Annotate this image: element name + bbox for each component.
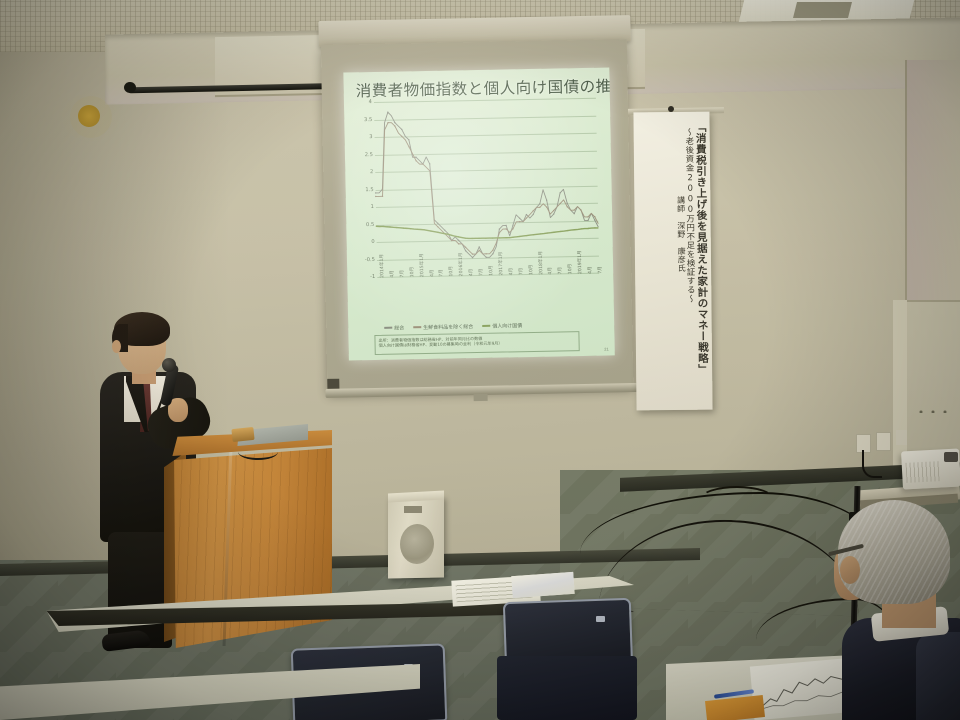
chart-y-tick-label: 1.5 (365, 187, 373, 193)
chart-data-point (519, 221, 520, 222)
chart-x-tick-label: 10月 (567, 264, 573, 275)
chart-x-tick-label: 7月 (478, 268, 484, 276)
seminar-room-photo: 消費者物価指数と個人向け国債の推移 43.532.521.510.50-0.5-… (0, 0, 960, 720)
chart-x-tick-label: 2019年1月 (577, 250, 583, 274)
chart-x-tick-label: 4月 (548, 267, 554, 275)
audience-member (828, 500, 960, 720)
chart-x-tick-label: 7月 (557, 267, 563, 275)
chart-plot-area (374, 98, 599, 277)
wall-switch[interactable] (896, 430, 907, 445)
chart-y-tick-label: 2 (370, 169, 373, 175)
audience-member-hair-texture (838, 500, 950, 604)
audience-member-ear (840, 556, 860, 584)
chart-x-tick-label: 7月 (399, 270, 405, 278)
chart-y-tick-label: 1 (371, 204, 374, 210)
cpi-jgb-line-chart: 43.532.521.510.50-0.5-1 (374, 98, 599, 277)
banner-main-title: 「消費税引き上げ後を見据えた家計のマネー戦略」 (695, 122, 709, 375)
slide-page-number: 21 (604, 347, 609, 352)
chart-y-tick-label: 4 (369, 99, 372, 105)
chart-y-tick-label: 2.5 (365, 152, 373, 158)
chart-x-tick-label: 7月 (597, 266, 603, 274)
event-title-banner: 「消費税引き上げ後を見据えた家計のマネー戦略」 ～老後資金2000万円不足を検証… (633, 112, 712, 411)
projection-screen: 消費者物価指数と個人向け国債の推移 43.532.521.510.50-0.5-… (318, 15, 637, 403)
chart-x-tick-label: 10月 (448, 266, 454, 277)
chart-y-tick-label: 3 (369, 134, 372, 140)
microphone-head (162, 358, 176, 372)
chart-x-axis-labels: 2014年1月4月7月10月2015年1月4月7月10月2016年1月4月7月1… (377, 274, 608, 324)
wall-clock-face (78, 105, 100, 127)
podium-cable (238, 444, 278, 460)
legend-label-jgb: 個人向け国債 (492, 322, 522, 330)
projected-slide: 消費者物価指数と個人向け国債の推移 43.532.521.510.50-0.5-… (343, 67, 614, 360)
legend-item-core: 生鮮食料品を除く総合 (413, 323, 473, 331)
ceiling-vent (793, 2, 852, 18)
chart-x-tick-label: 4月 (429, 269, 435, 277)
chart-x-tick-label: 4月 (508, 268, 514, 276)
legend-label-core: 生鮮食料品を除く総合 (423, 323, 473, 331)
banner-subtitle: ～老後資金2000万円不足を検証する～ (685, 128, 696, 303)
power-cord (862, 450, 882, 478)
chart-data-point (375, 196, 376, 197)
chart-x-tick-label: 7月 (518, 268, 524, 276)
legend-swatch-jgb (482, 325, 490, 327)
pa-speaker-handle (404, 506, 422, 513)
banner-speaker-name: 講師 深野 康彦氏 (676, 196, 685, 273)
legend-swatch-total (384, 327, 392, 329)
legend-label-total: 総合 (394, 324, 404, 331)
chart-data-point (485, 253, 486, 254)
chart-x-tick-label: 4月 (587, 266, 593, 274)
chart-y-tick-label: 0.5 (366, 221, 374, 227)
chart-x-tick-label: 4月 (468, 269, 474, 277)
chart-series-line (374, 108, 599, 259)
chair-seat-right[interactable] (497, 656, 637, 720)
chart-x-tick-label: 2015年1月 (418, 253, 424, 277)
chart-x-tick-label: 2014年1月 (379, 254, 385, 278)
chair-label-tag (596, 616, 605, 622)
projector-vent (905, 461, 940, 483)
chart-y-tick-label: -1 (370, 274, 375, 280)
podium-ledge (231, 427, 254, 442)
chart-x-tick-label: 10月 (488, 265, 494, 276)
chart-x-tick-label: 7月 (439, 269, 445, 277)
legend-item-total: 総合 (384, 324, 404, 331)
chart-x-tick-label: 4月 (389, 270, 395, 278)
projection-screen-pull-tab[interactable] (474, 394, 488, 401)
door-vent-holes (915, 410, 955, 413)
legend-swatch-core (413, 326, 421, 328)
chart-x-tick-label: 2017年1月 (498, 252, 504, 276)
legend-item-jgb: 個人向け国債 (482, 322, 522, 330)
chart-y-tick-label: -0.5 (365, 256, 375, 262)
chart-x-tick-label: 10月 (528, 264, 534, 275)
chart-data-point (382, 196, 383, 197)
chart-y-tick-label: 0 (371, 239, 374, 245)
chart-x-tick-label: 2016年1月 (458, 252, 464, 276)
chart-x-tick-label: 10月 (409, 267, 415, 278)
handout-paper-secondary[interactable] (511, 572, 574, 598)
chart-data-point (375, 192, 376, 193)
chart-y-tick-label: 3.5 (364, 117, 372, 123)
chart-x-tick-label: 2018年1月 (537, 251, 543, 275)
slide-source-note: 出所：消費者物価指数は総務省HP、対前年同月比の数値 個人向け国債は財務省HP、… (374, 331, 579, 355)
wall-outlet-secondary[interactable] (876, 432, 891, 451)
projector-lens (944, 452, 958, 462)
curtain-rail-end-cap (124, 82, 136, 93)
chart-series-line (376, 222, 598, 240)
presenter-ear (112, 340, 121, 353)
audience-member-shoulder (916, 632, 960, 720)
